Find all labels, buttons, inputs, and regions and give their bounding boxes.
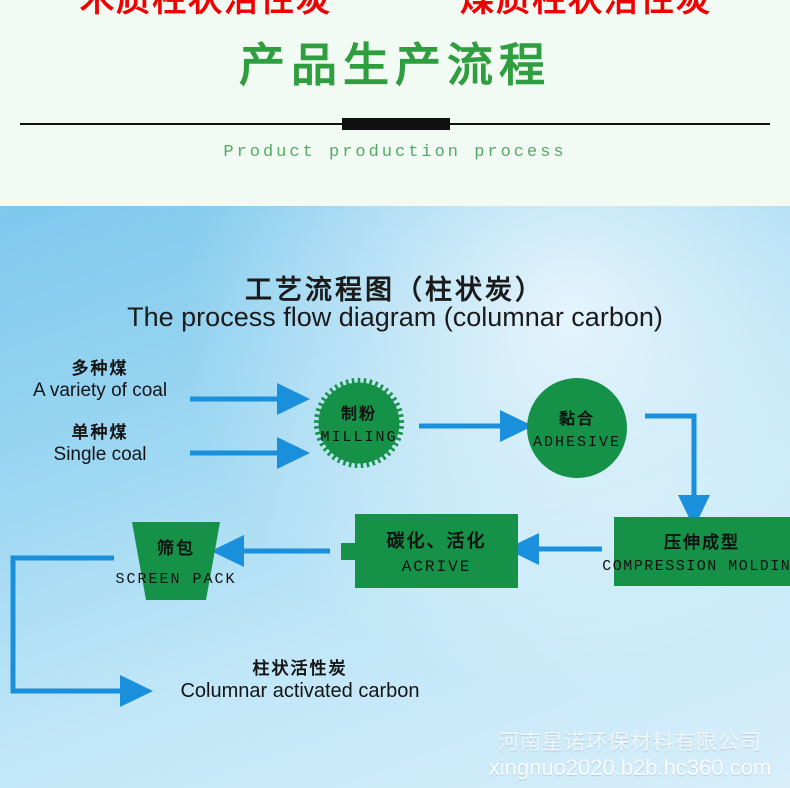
process-flow-diagram: 工艺流程图（柱状炭） The process flow diagram (col… — [0, 206, 790, 788]
input-label-single-coal: 单种煤 Single coal — [0, 418, 200, 466]
step-adhesive-en: ADHESIVE — [533, 434, 621, 451]
red-banner-right: 煤质柱状活性炭 — [460, 0, 790, 18]
step-acrive-cn: 碳化、活化 — [387, 527, 487, 553]
input-single-en: Single coal — [0, 444, 200, 466]
step-compression-text: 压伸成型 COMPRESSION MOLDING — [614, 517, 790, 586]
watermark-site: xingnuo2020.b2b.hc360.com — [470, 755, 790, 780]
input-label-variety-of-coal: 多种煤 A variety of coal — [0, 354, 200, 402]
step-acrive-en: ACRIVE — [402, 558, 472, 576]
input-single-cn: 单种煤 — [0, 418, 200, 443]
page-subtitle: Product production process — [0, 143, 790, 162]
step-adhesive-text: 黏合 ADHESIVE — [527, 378, 627, 478]
output-label-columnar-activated-carbon: 柱状活性炭 Columnar activated carbon — [165, 654, 435, 703]
arrow-screenpack-to-output — [13, 558, 126, 691]
trapezoid-icon — [132, 522, 220, 600]
title-divider — [20, 118, 770, 130]
header-band: 木质柱状活性炭 煤质柱状活性炭 产品生产流程 Product productio… — [0, 0, 790, 206]
step-compression-en: COMPRESSION MOLDING — [572, 558, 790, 575]
step-milling: 制粉 MILLING — [313, 377, 405, 469]
output-en: Columnar activated carbon — [165, 680, 435, 703]
gear-icon — [313, 377, 405, 469]
output-cn: 柱状活性炭 — [165, 654, 435, 679]
arrow-adhesive-to-compression — [645, 416, 694, 501]
watermark: 河南星诺环保材料有限公司 xingnuo2020.b2b.hc360.com — [470, 731, 790, 780]
step-compression-molding: 压伸成型 COMPRESSION MOLDING — [614, 517, 790, 586]
watermark-company: 河南星诺环保材料有限公司 — [470, 731, 790, 755]
step-adhesive-cn: 黏合 — [559, 405, 595, 429]
step-adhesive: 黏合 ADHESIVE — [527, 378, 627, 478]
step-screen-pack: 筛包 SCREEN PACK — [132, 522, 220, 600]
step-carbonization-activation: 碳化、活化 ACRIVE — [355, 514, 518, 588]
page-root: 木质柱状活性炭 煤质柱状活性炭 产品生产流程 Product productio… — [0, 0, 790, 788]
divider-center-block — [342, 118, 450, 130]
step-compression-cn: 压伸成型 — [664, 528, 740, 553]
input-variety-cn: 多种煤 — [0, 354, 200, 379]
diagram-title-en: The process flow diagram (columnar carbo… — [0, 302, 790, 333]
page-title: 产品生产流程 — [0, 35, 790, 95]
step-acrive-text: 碳化、活化 ACRIVE — [355, 514, 518, 588]
input-variety-en: A variety of coal — [0, 380, 200, 402]
